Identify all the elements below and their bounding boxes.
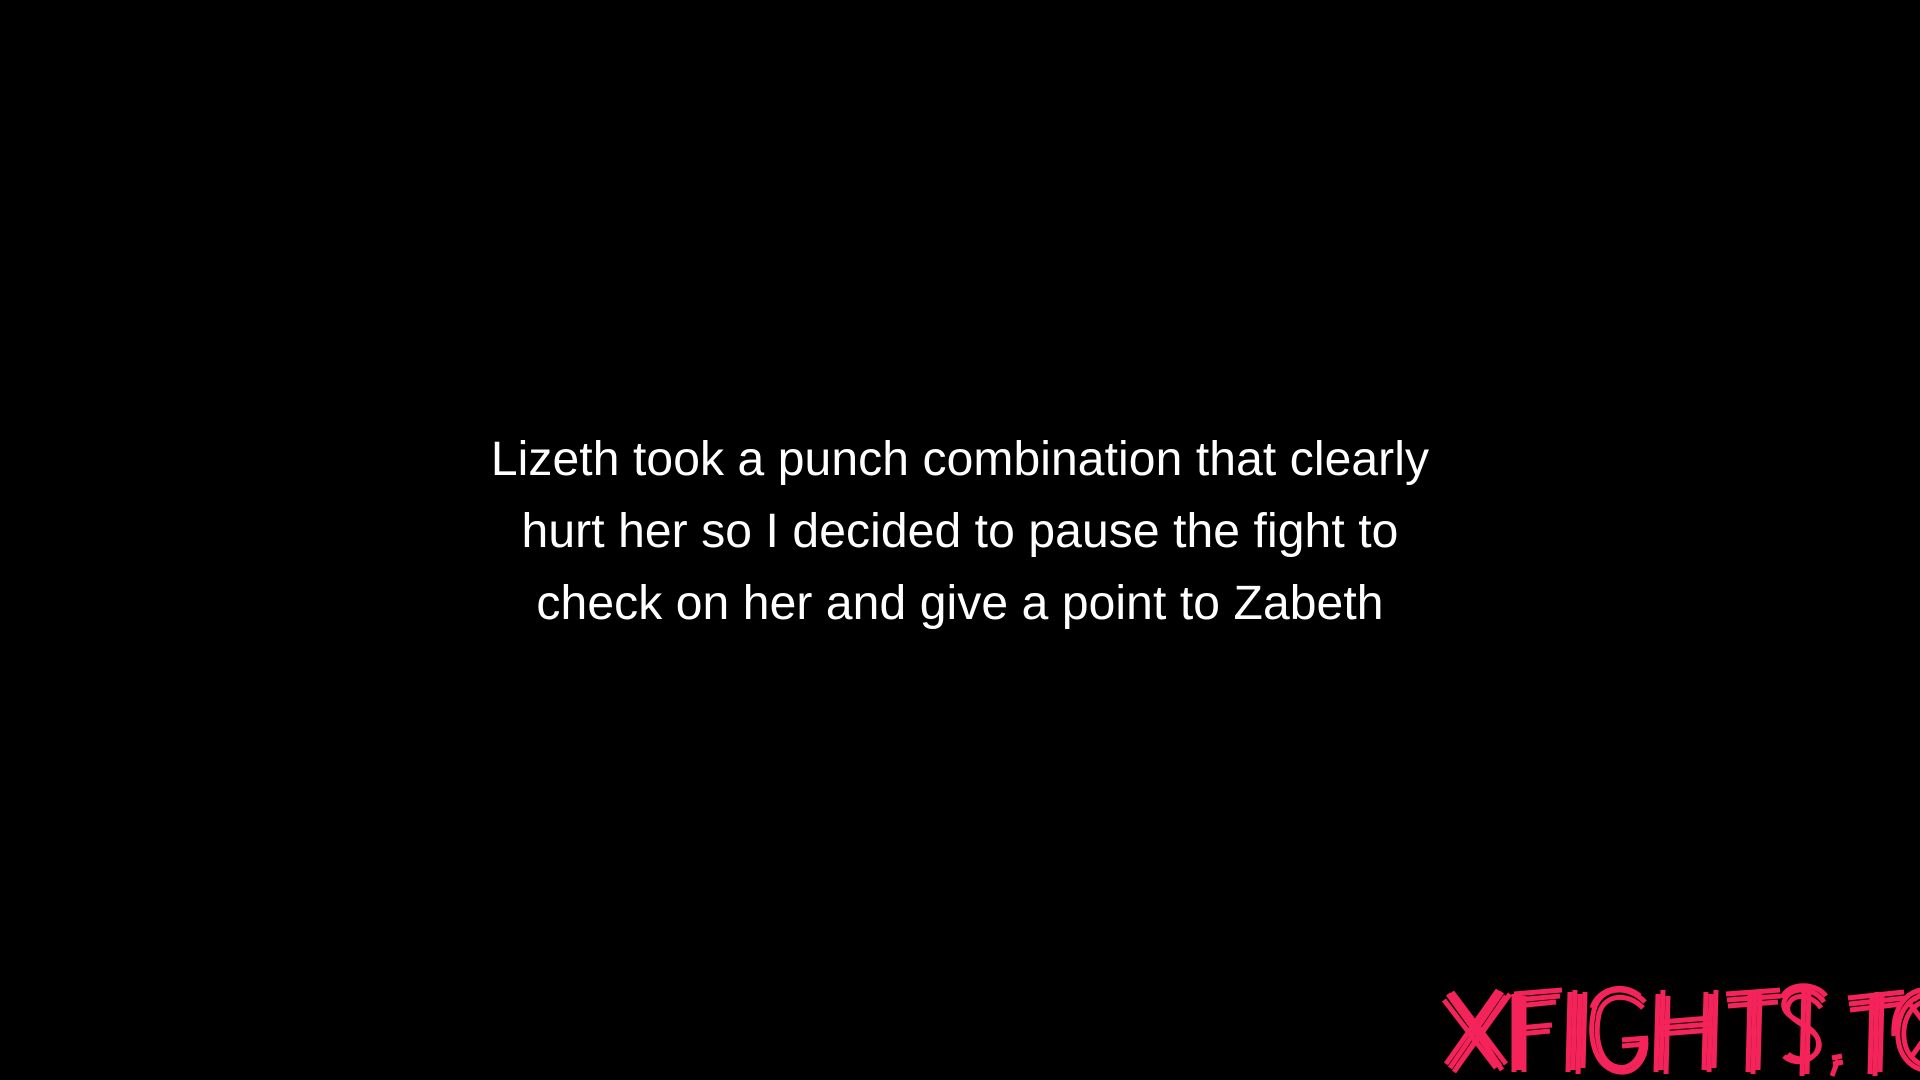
caption-block: Lizeth took a punch combination that cle… bbox=[0, 424, 1920, 640]
watermark-logo-icon bbox=[1440, 980, 1920, 1080]
caption-line-3: check on her and give a point to Zabeth bbox=[240, 568, 1680, 640]
caption-line-1: Lizeth took a punch combination that cle… bbox=[240, 424, 1680, 496]
video-frame: Lizeth took a punch combination that cle… bbox=[0, 0, 1920, 1080]
xfights-watermark: XFIGHTS.TO bbox=[1440, 980, 1920, 1080]
caption-line-2: hurt her so I decided to pause the fight… bbox=[240, 496, 1680, 568]
watermark-label: XFIGHTS.TO bbox=[1440, 980, 1441, 981]
